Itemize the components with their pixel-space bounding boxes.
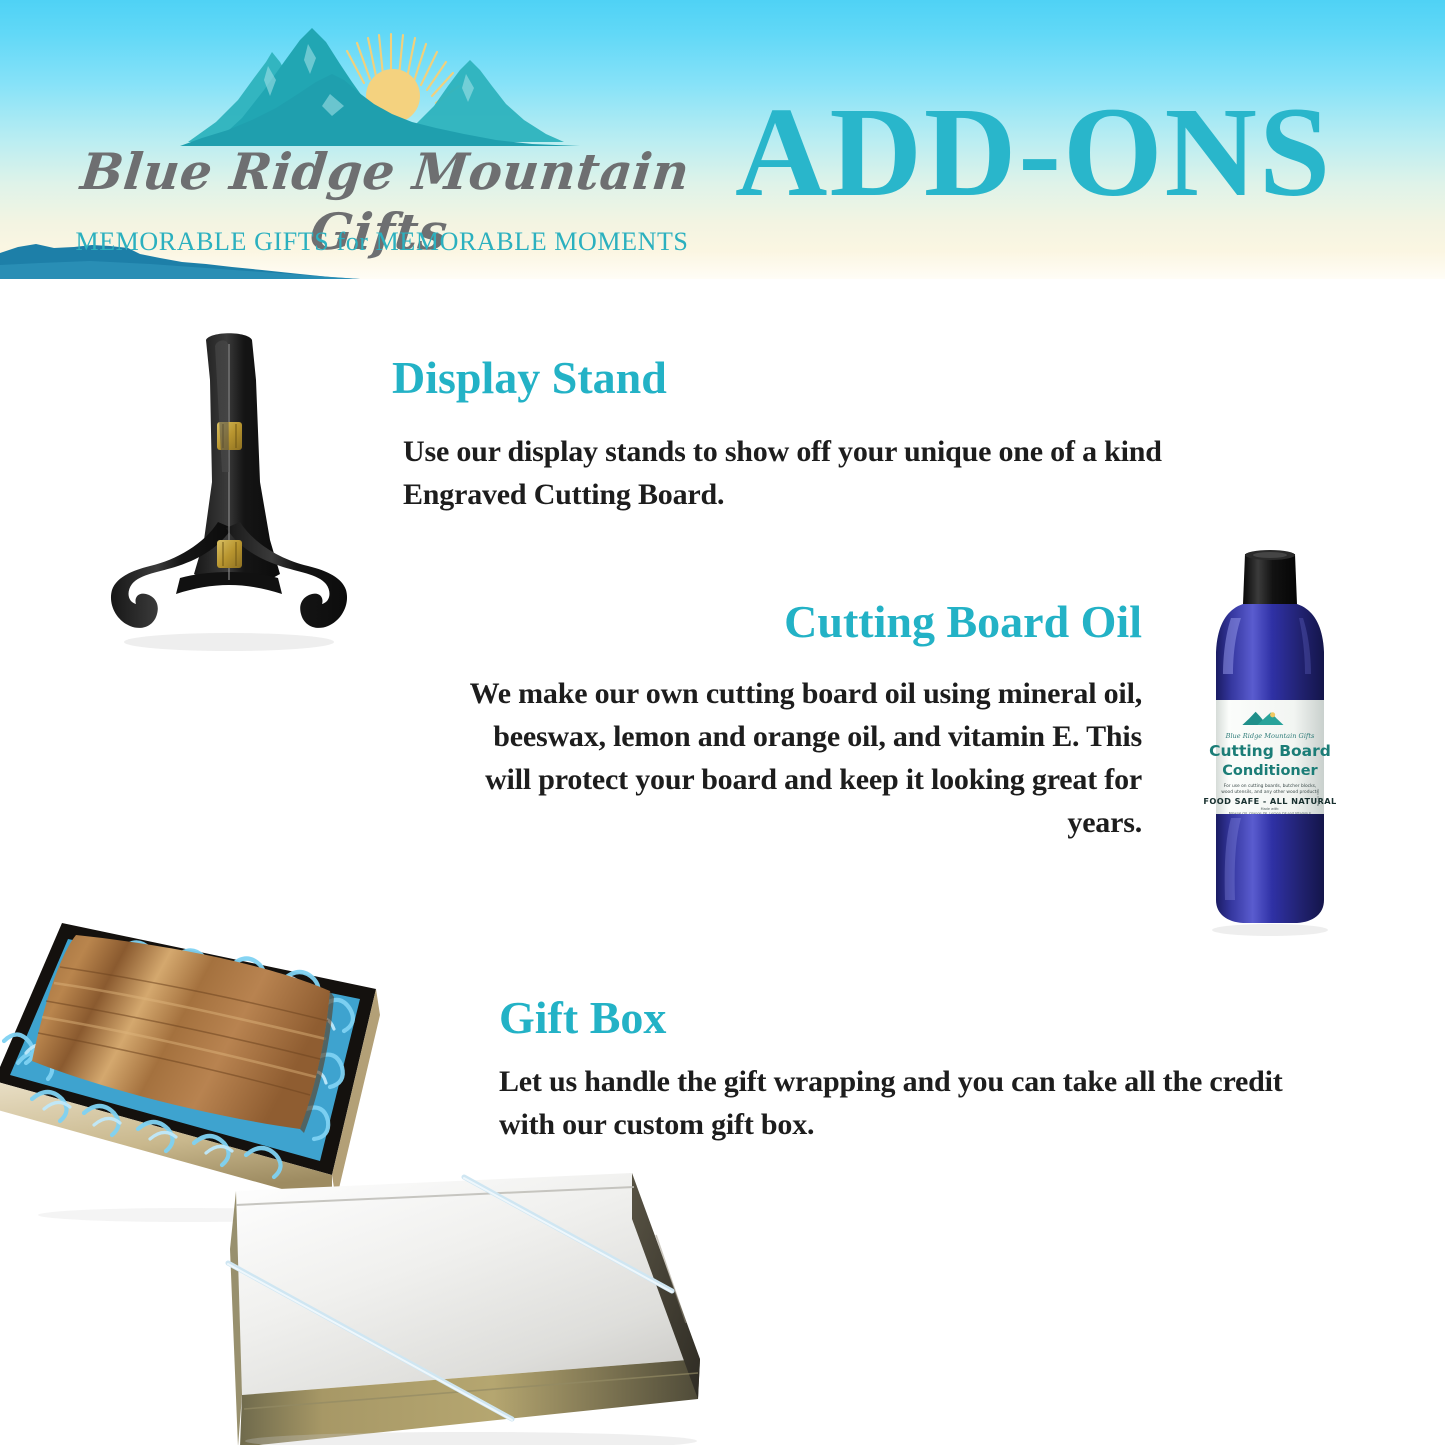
section-body-gift-box: Let us handle the gift wrapping and you … <box>499 1060 1299 1146</box>
addons-infographic: Blue Ridge Mountain Gifts MEMORABLE GIFT… <box>0 0 1445 1445</box>
brand-logo: Blue Ridge Mountain Gifts MEMORABLE GIFT… <box>62 10 702 270</box>
section-heading-display-stand: Display Stand <box>392 352 1182 404</box>
header-banner: Blue Ridge Mountain Gifts MEMORABLE GIFT… <box>0 0 1445 279</box>
section-cutting-board-oil: Cutting Board Oil We make our own cuttin… <box>452 596 1142 844</box>
mountain-range-with-sun-icon <box>180 18 580 148</box>
svg-text:Made with:: Made with: <box>1261 807 1280 811</box>
label-brand: Blue Ridge Mountain Gifts <box>1225 732 1315 740</box>
section-heading-gift-box: Gift Box <box>499 992 1299 1044</box>
label-title-1: Cutting Board <box>1209 742 1331 760</box>
label-title-2: Conditioner <box>1222 763 1318 779</box>
brand-tagline: MEMORABLE GIFTS for MEMORABLE MOMENTS <box>62 227 702 257</box>
svg-text:For use on cutting boards, but: For use on cutting boards, butcher block… <box>1224 783 1317 789</box>
section-heading-cutting-board-oil: Cutting Board Oil <box>452 596 1142 648</box>
display-stand-image <box>84 322 374 667</box>
svg-text:wood utensils, and any other w: wood utensils, and any other wood produc… <box>1221 789 1319 795</box>
section-body-display-stand: Use our display stands to show off your … <box>392 430 1182 516</box>
section-display-stand: Display Stand Use our display stands to … <box>392 352 1182 516</box>
svg-text:Net 16 fl oz: Net 16 fl oz <box>1316 788 1320 806</box>
page-title: ADD-ONS <box>735 88 1375 216</box>
closed-gift-box-image <box>186 1163 746 1445</box>
section-gift-box: Gift Box Let us handle the gift wrapping… <box>499 992 1299 1146</box>
section-body-cutting-board-oil: We make our own cutting board oil using … <box>452 672 1142 844</box>
cutting-board-oil-bottle-image: Blue Ridge Mountain Gifts Cutting Board … <box>1185 548 1355 938</box>
